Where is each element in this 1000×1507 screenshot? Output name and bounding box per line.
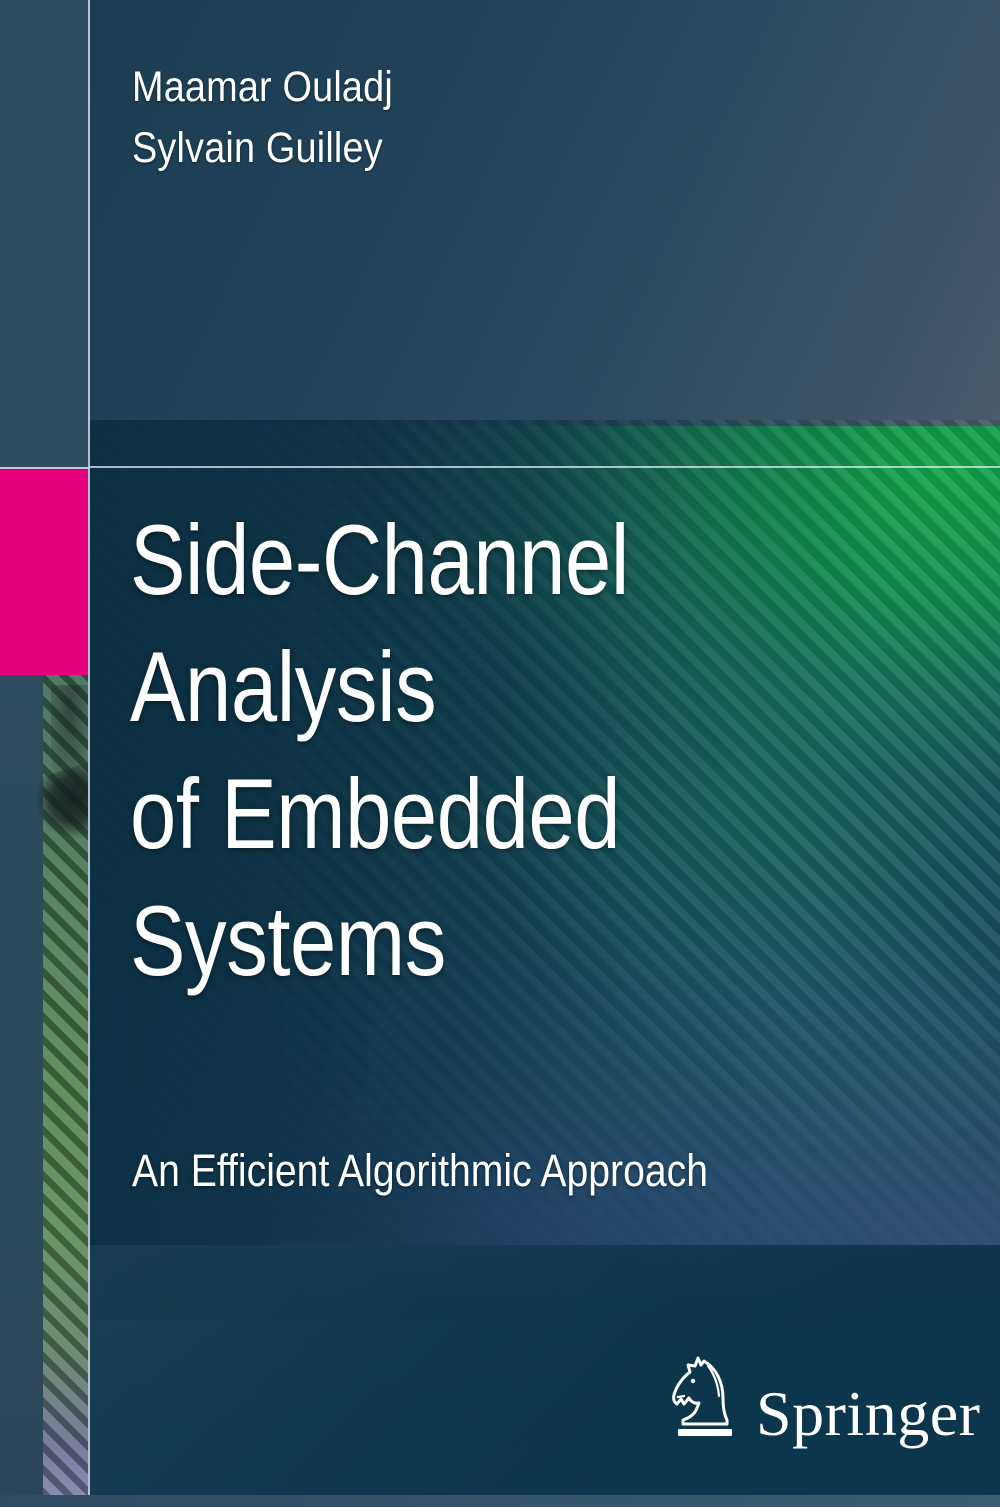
springer-knight-icon bbox=[668, 1352, 742, 1443]
author-name-1: Maamar Ouladj bbox=[132, 57, 393, 118]
title-line-4: Systems bbox=[130, 877, 629, 1004]
vertical-rule bbox=[88, 0, 90, 1495]
horizontal-rule-main bbox=[90, 466, 1000, 468]
bottom-edge-bar bbox=[0, 1495, 1000, 1507]
author-names: Maamar Ouladj Sylvain Guilley bbox=[132, 57, 393, 179]
springer-wordmark: Springer bbox=[756, 1382, 980, 1446]
publisher-logo: Springer bbox=[668, 1352, 980, 1443]
book-title: Side-Channel Analysis of Embedded System… bbox=[130, 496, 629, 1004]
left-color-column bbox=[0, 0, 88, 1507]
book-cover: Maamar Ouladj Sylvain Guilley Side-Chann… bbox=[0, 0, 1000, 1507]
magenta-accent-block bbox=[0, 470, 88, 675]
title-line-1: Side-Channel bbox=[130, 496, 629, 623]
book-subtitle: An Efficient Algorithmic Approach bbox=[132, 1145, 708, 1197]
horizontal-rule-left bbox=[0, 467, 89, 469]
title-line-3: of Embedded bbox=[130, 750, 629, 877]
title-line-2: Analysis bbox=[130, 623, 629, 750]
left-artwork-strip bbox=[43, 675, 88, 1497]
author-name-2: Sylvain Guilley bbox=[132, 118, 393, 179]
